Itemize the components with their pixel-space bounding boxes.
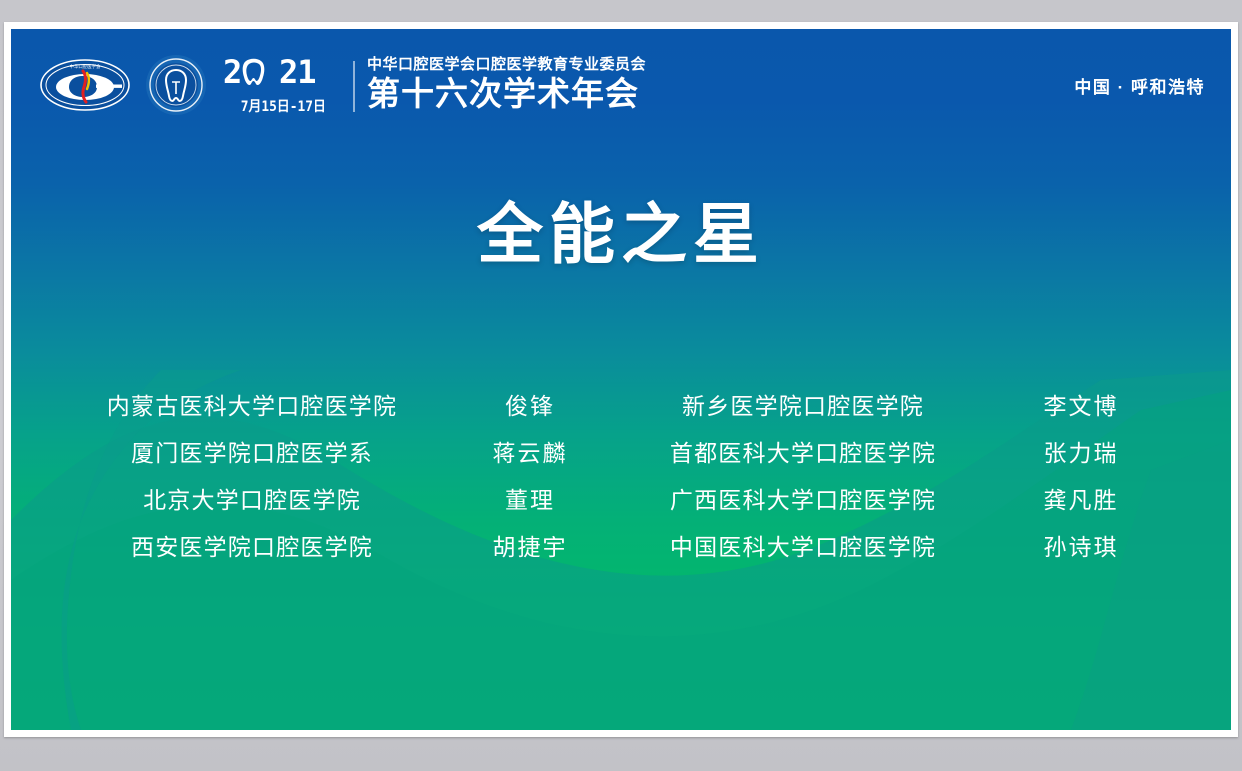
award-recipient: 李文博: [983, 387, 1179, 421]
table-row: 北京大学口腔医学院 董理: [67, 481, 623, 528]
award-column-left: 内蒙古医科大学口腔医学院 俊锋 厦门医学院口腔医学系 蒋云麟 北京大学口腔医学院…: [67, 387, 623, 575]
award-list: 内蒙古医科大学口腔医学院 俊锋 厦门医学院口腔医学系 蒋云麟 北京大学口腔医学院…: [67, 387, 1179, 575]
conference-name: 第十六次学术年会: [367, 75, 646, 113]
presentation-slide: 中华口腔医学会: [10, 28, 1232, 731]
table-row: 中国医科大学口腔医学院 孙诗琪: [623, 528, 1179, 575]
award-school: 北京大学口腔医学院: [67, 481, 437, 515]
conference-location: 中国 · 呼和浩特: [1074, 73, 1205, 98]
table-row: 首都医科大学口腔医学院 张力瑞: [623, 434, 1179, 481]
year-2021-logo: 2 21: [223, 55, 343, 94]
award-school: 中国医科大学口腔医学院: [623, 528, 983, 562]
award-recipient: 张力瑞: [983, 434, 1179, 468]
award-recipient: 孙诗琪: [983, 528, 1179, 562]
chinese-stomatological-association-logo: 中华口腔医学会: [39, 57, 131, 113]
svg-text:21: 21: [279, 55, 316, 89]
table-row: 新乡医学院口腔医学院 李文博: [623, 387, 1179, 434]
screenshot-root: 中华口腔医学会: [0, 0, 1242, 771]
tooth-emblem-badge: [145, 54, 207, 116]
table-row: 西安医学院口腔医学院 胡捷宇: [67, 528, 623, 575]
svg-text:中华口腔医学会: 中华口腔医学会: [70, 63, 101, 70]
conference-date: 7月15日-17日: [240, 96, 325, 116]
award-recipient: 龚凡胜: [983, 481, 1179, 515]
award-recipient: 胡捷宇: [437, 528, 623, 562]
table-row: 内蒙古医科大学口腔医学院 俊锋: [67, 387, 623, 434]
award-recipient: 俊锋: [437, 387, 623, 421]
award-recipient: 董理: [437, 481, 623, 515]
page-title: 全能之星: [11, 201, 1231, 267]
award-school: 西安医学院口腔医学院: [67, 528, 437, 562]
award-school: 厦门医学院口腔医学系: [67, 434, 437, 468]
award-school: 广西医科大学口腔医学院: [623, 481, 983, 515]
slide-header: 中华口腔医学会: [11, 29, 1231, 141]
conference-year-block: 2 21 7月15日-17日: [223, 55, 355, 116]
award-recipient: 蒋云麟: [437, 434, 623, 468]
award-school: 首都医科大学口腔医学院: [623, 434, 983, 468]
table-row: 厦门医学院口腔医学系 蒋云麟: [67, 434, 623, 481]
table-row: 广西医科大学口腔医学院 龚凡胜: [623, 481, 1179, 528]
award-school: 新乡医学院口腔医学院: [623, 387, 983, 421]
svg-text:2: 2: [223, 55, 241, 89]
slide-frame: 中华口腔医学会: [4, 22, 1238, 737]
conference-title-block: 中华口腔医学会口腔医学教育专业委员会 第十六次学术年会: [367, 57, 646, 113]
award-school: 内蒙古医科大学口腔医学院: [67, 387, 437, 421]
organizer-name: 中华口腔医学会口腔医学教育专业委员会: [367, 57, 646, 74]
award-column-right: 新乡医学院口腔医学院 李文博 首都医科大学口腔医学院 张力瑞 广西医科大学口腔医…: [623, 387, 1179, 575]
